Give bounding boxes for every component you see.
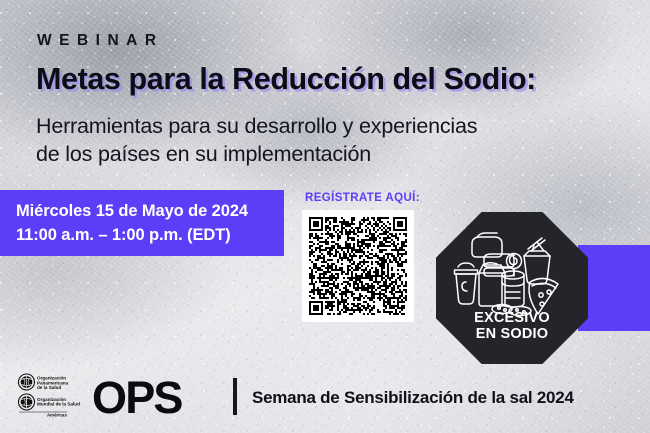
page-title: Metas para la Reducción del Sodio: [36,62,536,97]
footer: Organización Panamericana de la Salud Or… [0,370,650,433]
svg-text:Mundial de la Salud: Mundial de la Salud [37,402,80,407]
kicker-webinar: WEBINAR [37,32,164,50]
event-time: 11:00 a.m. – 1:00 p.m. (EDT) [16,223,284,247]
octagon-shape: EXCESIVO EN SODIO [436,212,588,364]
warning-line-1: EXCESIVO [436,310,588,326]
qr-code-canvas[interactable] [309,217,407,315]
takeout-box-icon [524,238,550,284]
qr-code-icon[interactable] [302,210,414,322]
purple-accent-bar [578,245,650,331]
event-datetime-box: Miércoles 15 de Mayo de 2024 11:00 a.m. … [0,190,284,256]
page-subtitle: Herramientas para su desarrollo y experi… [36,112,477,169]
svg-text:Américas: Américas [47,412,67,417]
event-date: Miércoles 15 de Mayo de 2024 [16,199,284,223]
register-here-label: REGÍSTRATE AQUÍ: [305,192,420,204]
footer-divider [233,378,237,415]
coffee-cup-icon [455,263,478,304]
webinar-poster: WEBINAR Metas para la Reducción del Sodi… [0,0,650,433]
snack-bag-icon [479,263,505,306]
subtitle-line-2: de los países en su implementación [36,140,477,168]
warning-line-2: EN SODIO [436,326,588,342]
warning-label: EXCESIVO EN SODIO [436,212,588,364]
paho-who-logo-icon: Organización Panamericana de la Salud Or… [17,373,95,418]
ops-acronym: OPS [92,372,182,424]
footer-tagline: Semana de Sensibilización de la sal 2024 [252,388,574,408]
subtitle-line-1: Herramientas para su desarrollo y experi… [36,112,477,140]
svg-text:de la Salud: de la Salud [37,385,61,390]
warning-text: EXCESIVO EN SODIO [436,310,588,343]
